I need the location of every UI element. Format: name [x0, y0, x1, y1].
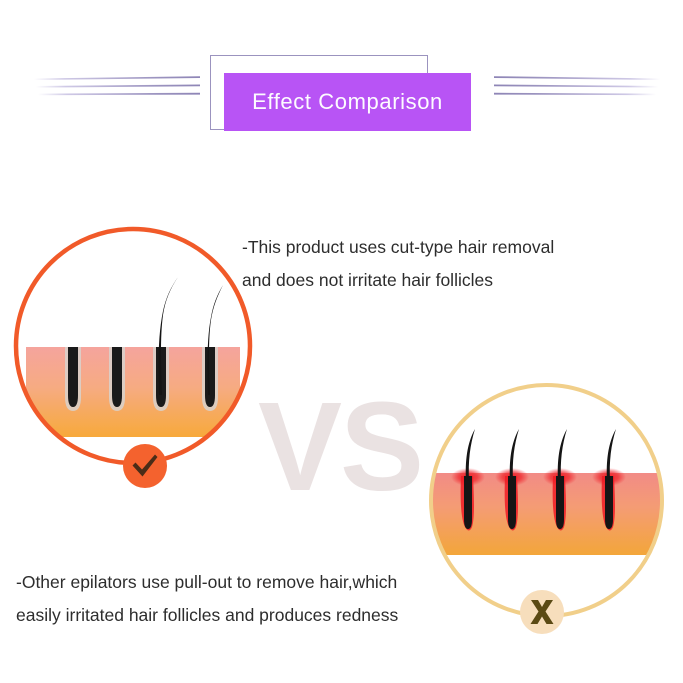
versus-watermark: VS — [258, 384, 422, 510]
good-caption-line2: and does not irritate hair follicles — [242, 264, 642, 297]
header-banner: Effect Comparison — [0, 0, 683, 170]
bad-caption: -Other epilators use pull-out to remove … — [16, 566, 486, 632]
good-caption: -This product uses cut-type hair removal… — [242, 231, 642, 297]
bad-caption-line1: -Other epilators use pull-out to remove … — [16, 566, 486, 599]
check-badge — [122, 443, 168, 489]
decoration-right-lines — [492, 66, 662, 106]
x-badge — [519, 589, 565, 635]
good-caption-line1: -This product uses cut-type hair removal — [242, 231, 642, 264]
good-result-illustration — [12, 225, 254, 467]
title-banner: Effect Comparison — [224, 73, 471, 131]
page-title: Effect Comparison — [252, 89, 443, 115]
bad-caption-line2: easily irritated hair follicles and prod… — [16, 599, 486, 632]
decoration-left-lines — [32, 66, 202, 106]
effect-comparison-infographic: Effect Comparison VS — [0, 0, 683, 683]
